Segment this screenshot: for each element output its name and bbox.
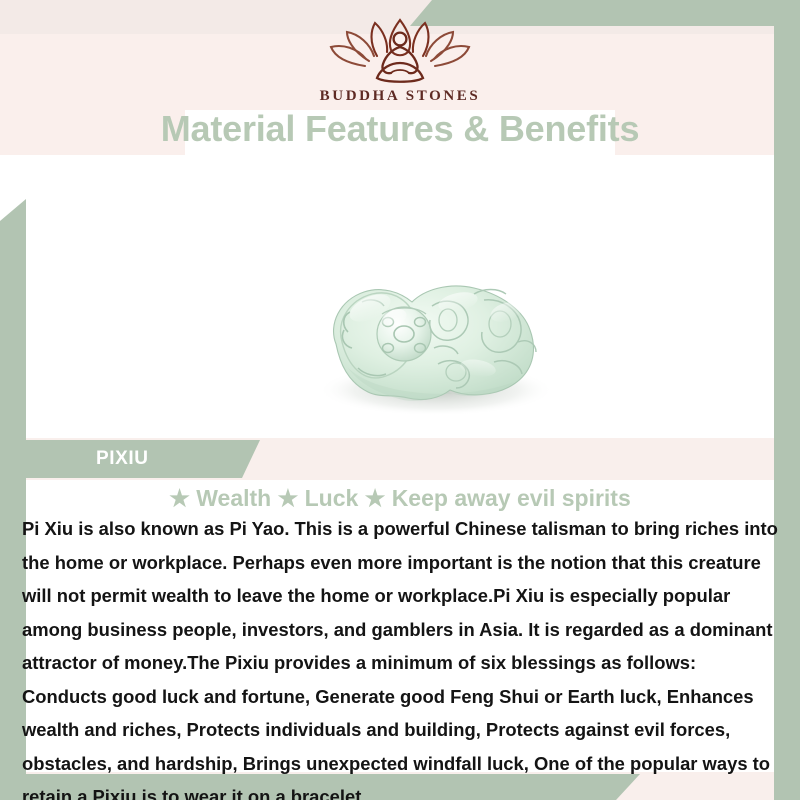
lotus-meditation-icon (0, 16, 800, 86)
page-title: Material Features & Benefits (0, 108, 800, 150)
product-name-label: PIXIU (96, 448, 149, 470)
jade-pixiu-carving (308, 272, 560, 417)
description-text: Pi Xiu is also known as Pi Yao. This is … (22, 512, 778, 800)
brand-logo: BUDDHA STONES (0, 16, 800, 105)
product-infographic-page: BUDDHA STONES Material Features & Benefi… (0, 0, 800, 800)
benefits-line: ★ Wealth ★ Luck ★ Keep away evil spirits (0, 485, 800, 512)
product-photo-area (26, 160, 774, 438)
brand-name: BUDDHA STONES (0, 88, 800, 105)
